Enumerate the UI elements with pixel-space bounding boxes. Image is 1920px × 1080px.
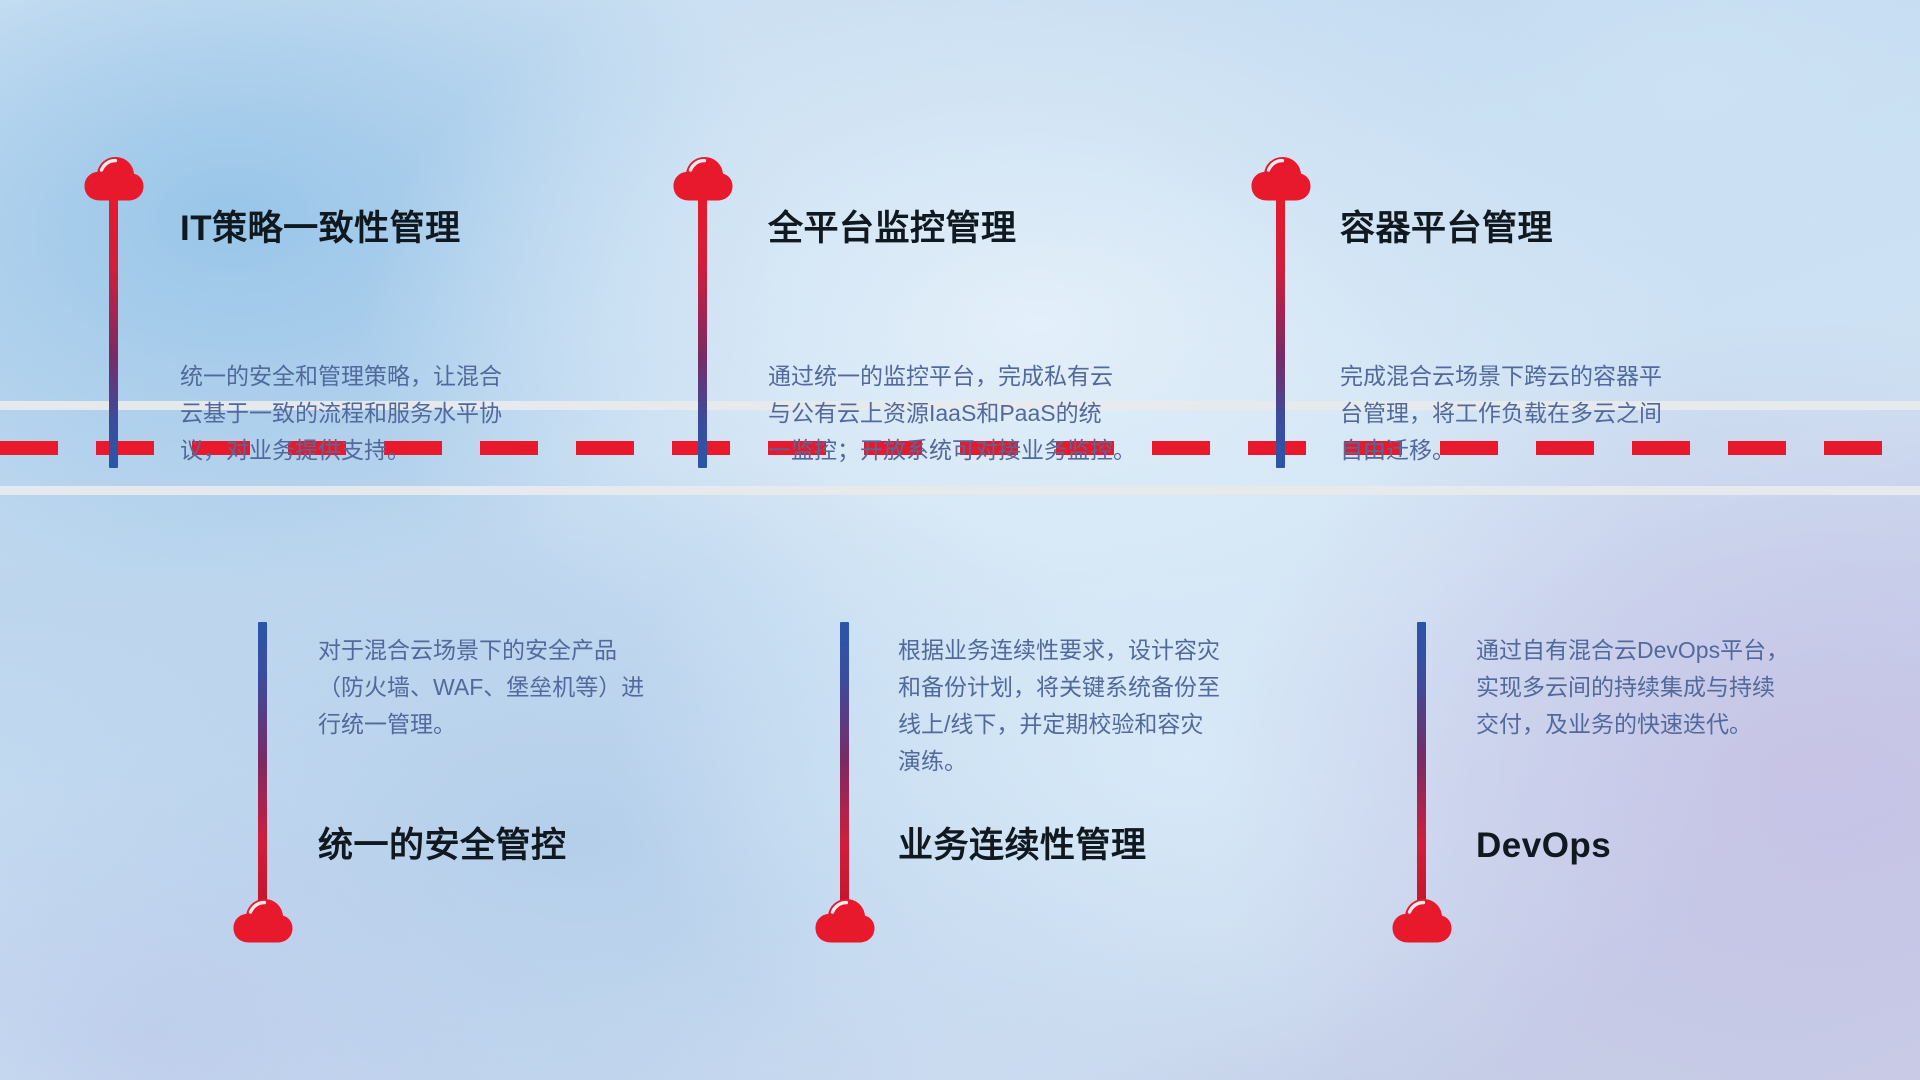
item-description: 根据业务连续性要求，设计容灾 和备份计划，将关键系统备份至 线上/线下，并定期校… xyxy=(898,632,1318,780)
description-line: 一监控；开放系统可对接业务监控。 xyxy=(768,432,1188,469)
item-description: 通过自有混合云DevOps平台， 实现多云间的持续集成与持续 交付，及业务的快速… xyxy=(1476,632,1896,743)
description-line: 云基于一致的流程和服务水平协 xyxy=(180,395,600,432)
cloud-icon xyxy=(232,898,294,944)
connector-stem xyxy=(1276,196,1285,468)
description-line: 交付，及业务的快速迭代。 xyxy=(1476,706,1896,743)
connector-stem xyxy=(840,622,849,912)
description-line: 演练。 xyxy=(898,743,1318,780)
infographic-canvas: IT策略一致性管理 统一的安全和管理策略，让混合 云基于一致的流程和服务水平协 … xyxy=(0,0,1920,1080)
connector-stem xyxy=(109,196,118,468)
description-line: 对于混合云场景下的安全产品 xyxy=(318,632,738,669)
description-line: 统一的安全和管理策略，让混合 xyxy=(180,358,600,395)
description-line: 线上/线下，并定期校验和容灾 xyxy=(898,706,1318,743)
item-description: 通过统一的监控平台，完成私有云 与公有云上资源IaaS和PaaS的统 一监控；开… xyxy=(768,358,1188,469)
road-rail-bottom xyxy=(0,486,1920,495)
description-line: 通过统一的监控平台，完成私有云 xyxy=(768,358,1188,395)
description-line: 议，对业务提供支持。 xyxy=(180,432,600,469)
connector-stem xyxy=(258,622,267,912)
item-description: 对于混合云场景下的安全产品 （防火墙、WAF、堡垒机等）进 行统一管理。 xyxy=(318,632,738,743)
connector-stem xyxy=(698,196,707,468)
item-title: 统一的安全管控 xyxy=(318,825,567,867)
item-description: 完成混合云场景下跨云的容器平 台管理，将工作负载在多云之间 自由迁移。 xyxy=(1340,358,1760,469)
description-line: 完成混合云场景下跨云的容器平 xyxy=(1340,358,1760,395)
description-line: 自由迁移。 xyxy=(1340,432,1760,469)
cloud-icon xyxy=(814,898,876,944)
description-line: 根据业务连续性要求，设计容灾 xyxy=(898,632,1318,669)
cloud-icon xyxy=(1391,898,1453,944)
item-description: 统一的安全和管理策略，让混合 云基于一致的流程和服务水平协 议，对业务提供支持。 xyxy=(180,358,600,469)
description-line: 实现多云间的持续集成与持续 xyxy=(1476,669,1896,706)
description-line: 台管理，将工作负载在多云之间 xyxy=(1340,395,1760,432)
item-title: 全平台监控管理 xyxy=(768,208,1017,250)
connector-stem xyxy=(1417,622,1426,912)
description-line: 行统一管理。 xyxy=(318,706,738,743)
description-line: 通过自有混合云DevOps平台， xyxy=(1476,632,1896,669)
description-line: 与公有云上资源IaaS和PaaS的统 xyxy=(768,395,1188,432)
item-title: 业务连续性管理 xyxy=(898,825,1147,867)
item-title: 容器平台管理 xyxy=(1340,208,1553,250)
item-title: IT策略一致性管理 xyxy=(180,208,461,250)
description-line: 和备份计划，将关键系统备份至 xyxy=(898,669,1318,706)
description-line: （防火墙、WAF、堡垒机等）进 xyxy=(318,669,738,706)
item-title: DevOps xyxy=(1476,825,1611,867)
